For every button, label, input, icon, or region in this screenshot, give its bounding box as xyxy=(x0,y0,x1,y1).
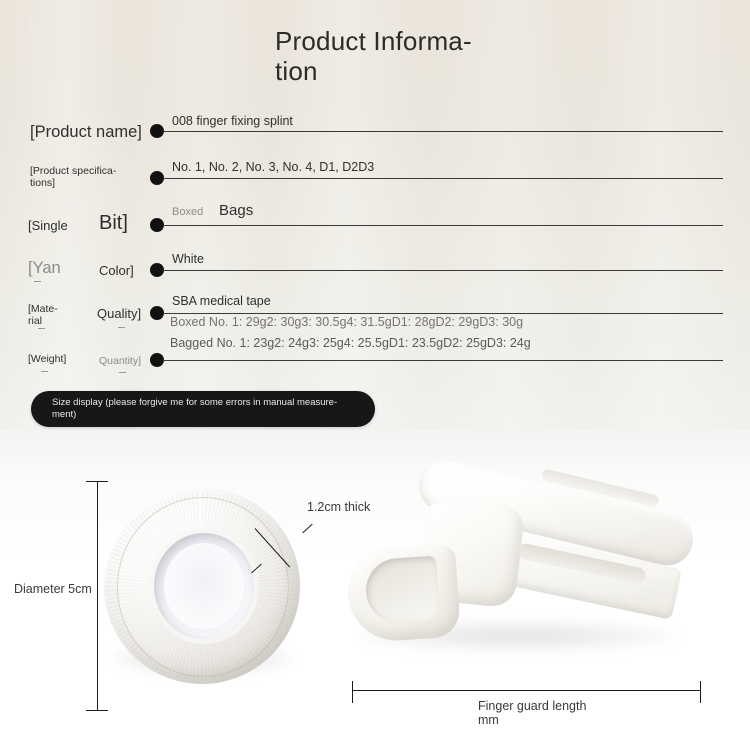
spec-row-dot xyxy=(150,263,164,277)
diameter-dim-line xyxy=(97,481,98,710)
spec-label-underscore xyxy=(38,328,45,329)
spec-value-product-name: 008 finger fixing splint xyxy=(172,114,293,128)
spec-label-underscore xyxy=(41,371,48,372)
spec-row-dot xyxy=(150,306,164,320)
spec-row-line xyxy=(163,270,723,271)
spec-label-product-name: [Product name] xyxy=(30,123,142,142)
spec-label-material-left: [Mate- rial xyxy=(28,303,58,327)
splint-length-dim-line xyxy=(352,690,700,691)
splint-length-cap-right xyxy=(700,681,701,703)
spec-label-underscore xyxy=(119,372,126,373)
spec-value-material: SBA medical tape xyxy=(172,294,271,308)
splint-length-label: Finger guard length mm xyxy=(478,699,586,727)
diameter-dim-cap-bottom xyxy=(86,710,108,711)
spec-value-unit-boxed: Boxed xyxy=(172,206,203,218)
spec-table: [Product name] 008 finger fixing splint … xyxy=(0,0,750,430)
spec-value-weight-boxed: Boxed No. 1: 29g2: 30g3: 30.5g4: 31.5gD1… xyxy=(170,315,523,329)
spec-value-weight-bagged: Bagged No. 1: 23g2: 24g3: 25g4: 25.5gD1:… xyxy=(170,336,531,350)
product-info-graphic: Product Informa- tion [Product name] 008… xyxy=(0,0,750,753)
finger-splint-image xyxy=(336,440,716,675)
spec-value-specifications: No. 1, No. 2, No. 3, No. 4, D1, D2D3 xyxy=(172,160,374,174)
spec-label-underscore xyxy=(118,327,125,328)
spec-label-color-right: Color] xyxy=(99,263,134,278)
spec-row-line xyxy=(163,131,723,132)
spec-value-unit-bags: Bags xyxy=(219,202,253,219)
spec-label-material-right: Quality] xyxy=(97,306,141,321)
spec-label-specifications: [Product specifica- tions] xyxy=(30,165,116,189)
size-display-notice-text: Size display (please forgive me for some… xyxy=(52,397,362,420)
spec-row-line xyxy=(163,360,723,361)
spec-label-unit-right: Bit] xyxy=(99,212,128,234)
tape-roll-core-inner xyxy=(164,543,244,629)
product-photo-area: Diameter 5cm 1.2cm thick Finger guard le… xyxy=(0,430,750,753)
spec-value-color: White xyxy=(172,252,204,266)
spec-label-weight-right: Quantity] xyxy=(99,355,141,367)
spec-row-line xyxy=(163,225,723,226)
size-display-notice-banner: Size display (please forgive me for some… xyxy=(31,391,375,427)
thickness-cap-outer xyxy=(302,524,312,533)
spec-row-dot xyxy=(150,171,164,185)
spec-label-color-left: [Yan xyxy=(28,259,61,278)
medical-tape-roll-image xyxy=(104,488,300,684)
spec-row-dot xyxy=(150,218,164,232)
spec-label-unit-left: [Single xyxy=(28,218,68,233)
spec-row-dot xyxy=(150,353,164,367)
spec-row-line xyxy=(163,178,723,179)
splint-length-cap-left xyxy=(352,681,353,703)
spec-label-weight-left: [Weight] xyxy=(28,353,66,365)
spec-row-line xyxy=(163,313,723,314)
spec-row-dot xyxy=(150,124,164,138)
spec-label-underscore xyxy=(34,281,41,282)
diameter-dim-label: Diameter 5cm xyxy=(14,582,92,596)
